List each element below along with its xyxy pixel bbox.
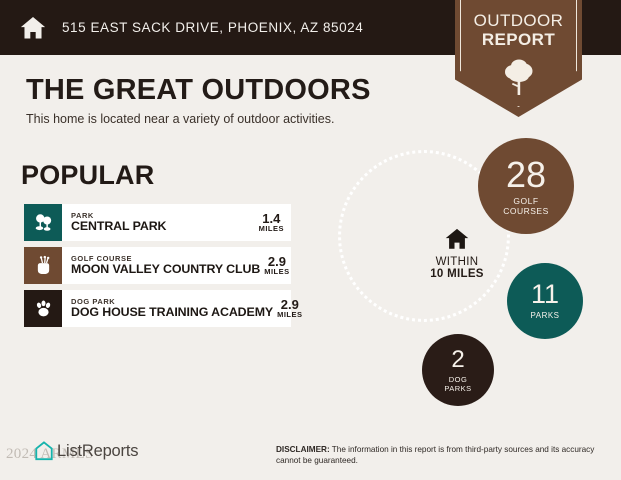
within-10-miles-diagram: 28 GOLF COURSES 11 PARKS 2 DOG PARKS WIT… bbox=[330, 138, 610, 423]
list-item-unit: MILES bbox=[259, 225, 284, 233]
property-address: 515 EAST SACK DRIVE, PHOENIX, AZ 85024 bbox=[62, 20, 363, 35]
outdoor-report-badge: OUTDOOR REPORT bbox=[455, 0, 582, 117]
listreports-logo[interactable]: ListReports bbox=[34, 440, 138, 462]
page-subtitle: This home is located near a variety of o… bbox=[26, 112, 334, 126]
stat-bubble-golf-courses: 28 GOLF COURSES bbox=[478, 138, 574, 234]
page-title: THE GREAT OUTDOORS bbox=[26, 74, 371, 107]
list-item-distance: 2.9 bbox=[264, 255, 289, 269]
list-item-name: MOON VALLEY COUNTRY CLUB bbox=[71, 263, 260, 276]
stat-count: 28 bbox=[506, 157, 546, 193]
diagram-center: WITHIN 10 MILES bbox=[412, 226, 502, 280]
stat-label: PARKS bbox=[530, 311, 559, 321]
stat-label: DOG PARKS bbox=[444, 375, 471, 393]
disclaimer-label: DISCLAIMER: bbox=[276, 445, 330, 454]
stat-bubble-parks: 11 PARKS bbox=[507, 263, 583, 339]
list-item-name: DOG HOUSE TRAINING ACADEMY bbox=[71, 306, 273, 319]
stat-label-line-1: GOLF bbox=[503, 196, 549, 206]
popular-heading: POPULAR bbox=[21, 160, 154, 191]
home-icon bbox=[412, 226, 502, 252]
list-item-distance: 2.9 bbox=[277, 298, 302, 312]
list-item-unit: MILES bbox=[277, 311, 302, 319]
list-item[interactable]: PARK CENTRAL PARK 1.4 MILES bbox=[24, 204, 291, 241]
stat-label-line-1: PARKS bbox=[530, 311, 559, 321]
golf-bag-icon bbox=[24, 247, 62, 284]
stat-bubble-dog-parks: 2 DOG PARKS bbox=[422, 334, 494, 406]
list-item-unit: MILES bbox=[264, 268, 289, 276]
stat-label-line-1: DOG bbox=[444, 375, 471, 384]
disclaimer: DISCLAIMER: The information in this repo… bbox=[276, 444, 596, 466]
popular-list: PARK CENTRAL PARK 1.4 MILES GOLF COU bbox=[24, 204, 291, 333]
stat-label: GOLF COURSES bbox=[503, 196, 549, 216]
logo-text: ListReports bbox=[57, 442, 138, 461]
paw-print-icon bbox=[24, 290, 62, 327]
stat-count: 11 bbox=[531, 281, 559, 308]
list-item[interactable]: GOLF COURSE MOON VALLEY COUNTRY CLUB 2.9… bbox=[24, 247, 291, 284]
park-trees-icon bbox=[24, 204, 62, 241]
badge-title: OUTDOOR REPORT bbox=[455, 11, 582, 49]
center-line-2: 10 MILES bbox=[412, 268, 502, 280]
center-line-1: WITHIN bbox=[412, 256, 502, 268]
list-item-name: CENTRAL PARK bbox=[71, 220, 166, 233]
list-item-distance: 1.4 bbox=[259, 212, 284, 226]
stat-label-line-2: COURSES bbox=[503, 206, 549, 216]
list-item[interactable]: DOG PARK DOG HOUSE TRAINING ACADEMY 2.9 … bbox=[24, 290, 291, 327]
tree-icon bbox=[502, 57, 536, 97]
badge-line-2: REPORT bbox=[455, 30, 582, 49]
house-logo-icon bbox=[34, 440, 54, 462]
stat-count: 2 bbox=[451, 348, 464, 372]
home-icon bbox=[18, 13, 48, 43]
stat-label-line-2: PARKS bbox=[444, 384, 471, 393]
badge-line-1: OUTDOOR bbox=[455, 11, 582, 30]
